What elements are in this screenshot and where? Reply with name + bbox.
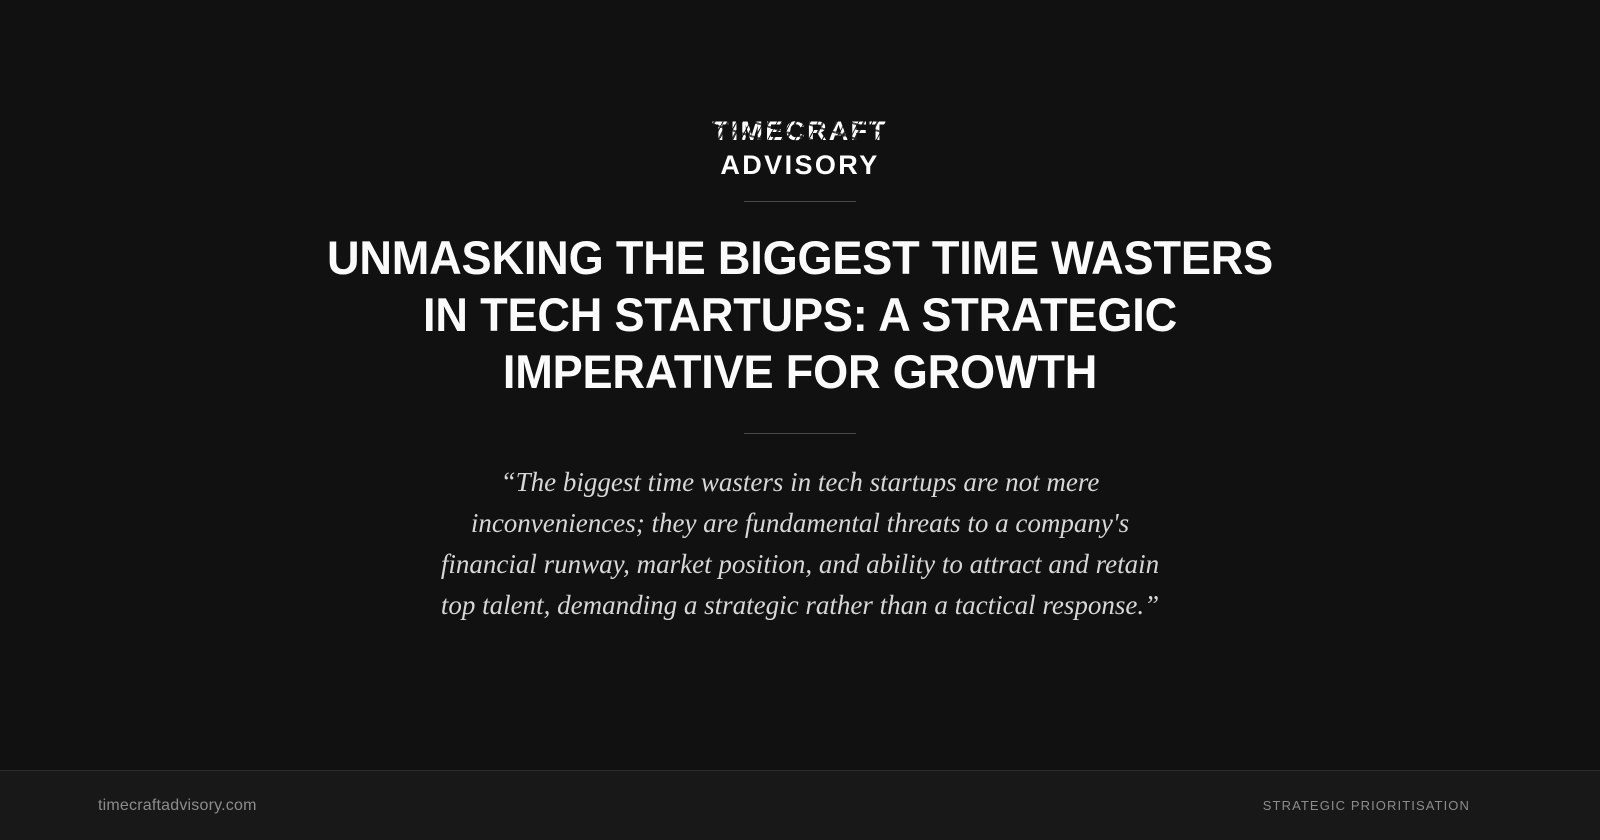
footer-category: Strategic Prioritisation <box>1263 798 1502 813</box>
slide-content: TIMECRAFT ADVISORY Unmasking the Biggest… <box>0 0 1600 770</box>
brand-name-primary: TIMECRAFT <box>712 118 888 145</box>
brand-name-secondary: ADVISORY <box>720 152 879 179</box>
slide-footer: timecraftadvisory.com Strategic Prioriti… <box>0 770 1600 840</box>
divider-under-logo <box>744 201 856 202</box>
presentation-slide: TIMECRAFT ADVISORY Unmasking the Biggest… <box>0 0 1600 840</box>
brand-logo: TIMECRAFT ADVISORY <box>712 118 888 179</box>
footer-website: timecraftadvisory.com <box>98 797 257 815</box>
slide-quote: “The biggest time wasters in tech startu… <box>440 462 1160 626</box>
slide-title: Unmasking the Biggest Time Wasters in Te… <box>320 229 1280 400</box>
divider-under-title <box>744 433 856 434</box>
